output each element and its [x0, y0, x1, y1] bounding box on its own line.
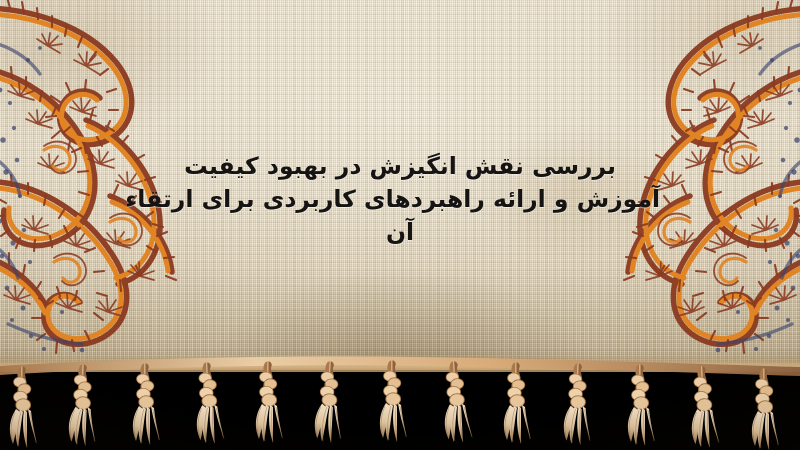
title-line-1: بررسی نقش انگیزش در بهبود کیفیت — [140, 150, 660, 183]
tassel-row — [10, 364, 779, 450]
page-title: بررسی نقش انگیزش در بهبود کیفیت آموزش و … — [0, 150, 800, 249]
title-card-canvas: بررسی نقش انگیزش در بهبود کیفیت آموزش و … — [0, 0, 800, 450]
title-line-2: آموزش و ارائه راهبردهای کاربردی برای ارت… — [140, 183, 660, 216]
title-line-3: آن — [140, 216, 660, 249]
tassel-fringe — [0, 354, 800, 450]
